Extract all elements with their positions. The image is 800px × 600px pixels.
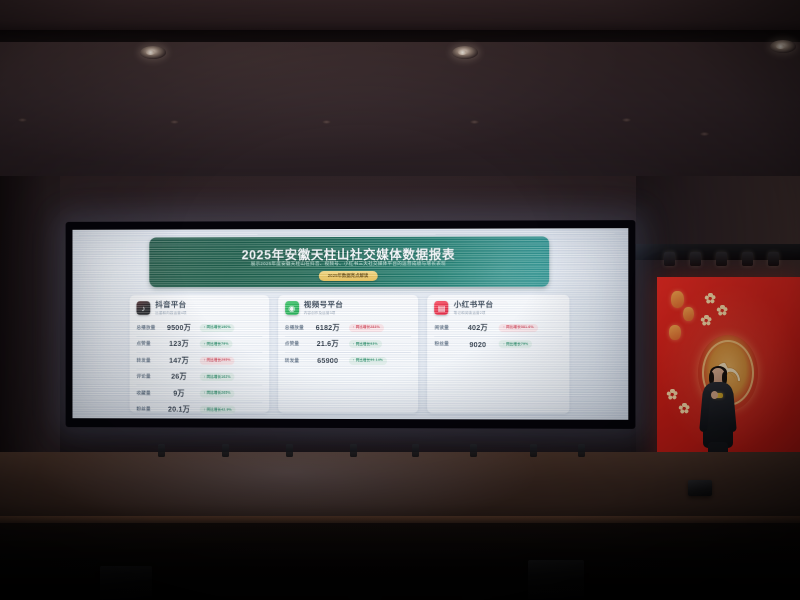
growth-badge: ↑ 同比增长79% xyxy=(499,341,532,349)
stage-par-light-icon xyxy=(664,252,675,266)
ceiling-lower xyxy=(0,42,800,182)
growth-badge: ↑ 同比增长162% xyxy=(200,373,235,381)
metric-value: 26万 xyxy=(162,372,196,382)
stage-floor-light-icon xyxy=(530,444,537,457)
stage-floor xyxy=(0,452,800,520)
metric-value: 9020 xyxy=(461,340,495,349)
ceiling-vent-icon xyxy=(700,132,709,136)
metric-row: 阅读量402万↑ 同比增长581.6% xyxy=(435,320,563,337)
metric-row: 转发量65900↑ 同比增长99.14% xyxy=(285,353,412,369)
metric-value: 9万 xyxy=(162,388,196,398)
platform-name: 视频号平台 xyxy=(304,301,343,309)
ceiling-vent-icon xyxy=(170,120,179,124)
metric-label: 点赞量 xyxy=(285,341,311,347)
metric-value: 21.6万 xyxy=(311,339,345,349)
audience-head xyxy=(348,580,382,600)
blossom-icon xyxy=(701,315,712,326)
stage-par-light-icon xyxy=(690,252,701,266)
led-screen: 2025年安徽天柱山社交媒体数据报表 展示2025年度安徽天柱山在抖音、视频号、… xyxy=(72,228,628,420)
xiaohongshu-icon: ▤ xyxy=(435,301,449,315)
metric-row: 收藏量9万↑ 同比增长265% xyxy=(136,386,261,403)
stage-floor-light-icon xyxy=(286,444,293,457)
platform-description: 比重和内容运营4项 xyxy=(155,311,186,315)
metric-value: 402万 xyxy=(461,323,495,333)
metric-row: 粉丝量9020↑ 同比增长79% xyxy=(435,337,563,353)
metric-row: 评论量26万↑ 同比增长162% xyxy=(136,369,261,386)
wall-panel-left xyxy=(0,176,60,476)
ceiling-downlight-icon xyxy=(770,40,796,53)
metric-value: 6182万 xyxy=(311,323,345,333)
metric-label: 总播放量 xyxy=(136,325,162,331)
stage-monitor-speaker xyxy=(688,480,712,496)
stage-floor-light-icon xyxy=(350,444,357,457)
ceiling-vent-icon xyxy=(470,120,479,124)
metric-row: 总播放量6182万↑ 同比增长283% xyxy=(285,320,412,337)
lantern-icon xyxy=(671,291,684,308)
platform-card: ◉视频号平台内容创作及运营3项总播放量6182万↑ 同比增长283%点赞量21.… xyxy=(278,295,419,413)
platform-description: 笔记和阅读运营2项 xyxy=(454,311,494,315)
platform-card-header: ◉视频号平台内容创作及运营3项 xyxy=(285,301,412,315)
metric-label: 转发量 xyxy=(136,358,162,364)
platform-card-header: ▤小红书平台笔记和阅读运营2项 xyxy=(435,301,563,315)
metric-label: 阅读量 xyxy=(435,325,461,331)
platform-card: ▤小红书平台笔记和阅读运营2项阅读量402万↑ 同比增长581.6%粉丝量902… xyxy=(428,295,570,414)
metric-label: 粉丝量 xyxy=(136,407,162,413)
stage-floor-light-icon xyxy=(578,444,585,457)
stage-floor-light-icon xyxy=(470,444,477,457)
douyin-icon: ♪ xyxy=(136,301,150,315)
blossom-icon xyxy=(705,293,716,304)
stage-par-light-icon xyxy=(716,252,727,266)
auditorium-scene: 2025年安徽天柱山社交媒体数据报表 展示2025年度安徽天柱山在抖音、视频号、… xyxy=(0,0,800,600)
growth-badge: ↑ 同比增长295% xyxy=(200,357,235,365)
metric-value: 20.1万 xyxy=(162,405,196,415)
metric-value: 9500万 xyxy=(162,323,196,333)
ceiling-vent-icon xyxy=(322,120,331,124)
metric-label: 粉丝量 xyxy=(435,341,461,347)
ceiling-vent-icon xyxy=(622,118,631,122)
blossom-icon xyxy=(667,389,678,400)
stage-par-light-icon xyxy=(768,252,779,266)
metric-value: 147万 xyxy=(162,356,196,366)
presenter-hand xyxy=(711,391,718,399)
metric-value: 123万 xyxy=(162,339,196,349)
wechat-channels-icon: ◉ xyxy=(285,301,299,315)
growth-badge: ↑ 同比增长190% xyxy=(200,324,235,332)
metric-row: 总播放量9500万↑ 同比增长190% xyxy=(136,320,261,336)
blossom-icon xyxy=(679,403,690,414)
platform-card: ♪抖音平台比重和内容运营4项总播放量9500万↑ 同比增长190%点赞量123万… xyxy=(130,295,269,413)
growth-badge: ↑ 同比增长581.6% xyxy=(499,324,538,332)
metric-row: 转发量147万↑ 同比增长295% xyxy=(136,353,261,370)
stage-par-light-icon xyxy=(742,252,753,266)
audience-head xyxy=(462,584,492,600)
ceiling-vent-icon xyxy=(18,118,27,122)
platform-name: 小红书平台 xyxy=(454,301,494,309)
metric-label: 转发量 xyxy=(285,358,311,364)
metric-label: 点赞量 xyxy=(136,341,162,347)
metric-value: 65900 xyxy=(311,356,345,365)
audience-silhouettes xyxy=(0,560,800,600)
led-screen-frame: 2025年安徽天柱山社交媒体数据报表 展示2025年度安徽天柱山在抖音、视频号、… xyxy=(66,220,636,429)
platform-card-list: ♪抖音平台比重和内容运营4项总播放量9500万↑ 同比增长190%点赞量123万… xyxy=(130,295,570,414)
ceiling-downlight-icon xyxy=(140,46,166,59)
platform-name: 抖音平台 xyxy=(155,301,186,309)
audience-head xyxy=(696,578,734,600)
growth-badge: ↑ 同比增长99.14% xyxy=(349,357,387,365)
growth-badge: ↑ 同比增长93% xyxy=(349,340,382,348)
growth-badge: ↑ 同比增长283% xyxy=(349,324,384,332)
growth-badge: ↑ 同比增长265% xyxy=(200,390,235,398)
metric-label: 评论量 xyxy=(136,374,162,380)
stage-floor-light-icon xyxy=(412,444,419,457)
growth-badge: ↑ 同比增长42.9% xyxy=(200,406,236,414)
stage-floor-light-icon xyxy=(158,444,165,457)
ceiling-downlight-icon xyxy=(452,46,478,59)
metric-row: 粉丝量20.1万↑ 同比增长42.9% xyxy=(136,402,261,418)
slide-hero-banner: 2025年安徽天柱山社交媒体数据报表 展示2025年度安徽天柱山在抖音、视频号、… xyxy=(149,236,549,287)
platform-description: 内容创作及运营3项 xyxy=(304,311,343,315)
slide-badge: 2025年数据亮点解读 xyxy=(319,271,377,281)
slide-subtitle: 展示2025年度安徽天柱山在抖音、视频号、小红书三大社交媒体平台的运营成绩与增长… xyxy=(149,261,549,268)
presentation-slide: 2025年安徽天柱山社交媒体数据报表 展示2025年度安徽天柱山在抖音、视频号、… xyxy=(72,228,628,420)
growth-badge: ↑ 同比增长79% xyxy=(200,340,233,348)
metric-row: 点赞量21.6万↑ 同比增长93% xyxy=(285,336,412,353)
blossom-icon xyxy=(717,305,728,316)
metric-label: 收藏量 xyxy=(136,390,162,396)
metric-row: 点赞量123万↑ 同比增长79% xyxy=(136,336,261,353)
metric-label: 总播放量 xyxy=(285,325,311,331)
platform-card-header: ♪抖音平台比重和内容运营4项 xyxy=(136,301,261,315)
lantern-icon xyxy=(683,307,694,321)
lantern-icon xyxy=(669,325,681,340)
stage-floor-light-icon xyxy=(222,444,229,457)
audience-head xyxy=(756,582,790,600)
